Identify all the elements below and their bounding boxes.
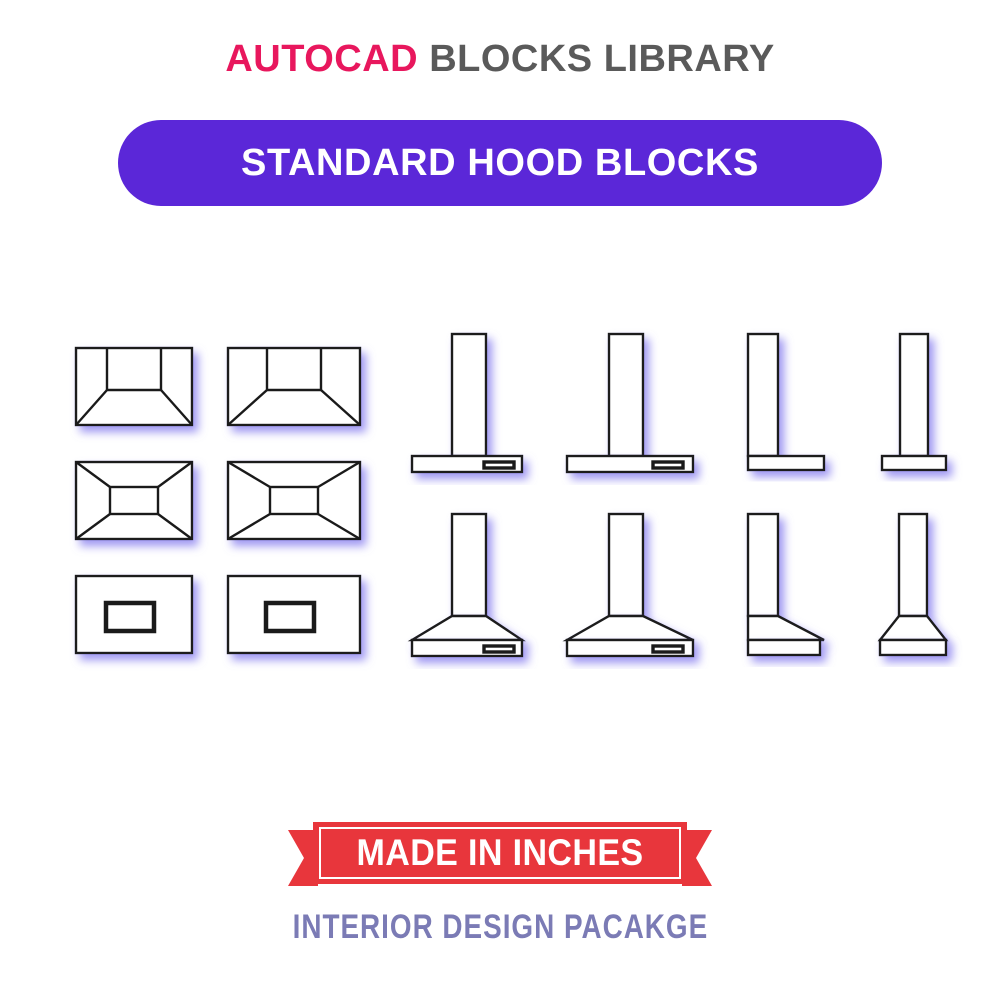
ribbon-label: MADE IN INCHES: [305, 817, 695, 889]
footer-tagline-label: INTERIOR DESIGN PACAKGE: [292, 908, 708, 947]
category-banner: STANDARD HOOD BLOCKS: [118, 120, 882, 206]
hood-elev-straight-offset-base[interactable]: [746, 332, 856, 482]
hood-elev-straight-wide-panel-2[interactable]: [565, 332, 705, 482]
hood-plan-flat-wide[interactable]: [226, 574, 372, 666]
hood-plan-trapezoid-narrow[interactable]: [74, 346, 204, 438]
blocks-canvas: [0, 300, 1000, 720]
page-title-brand: AUTOCAD: [225, 38, 418, 80]
footer-tagline: INTERIOR DESIGN PACAKGE: [0, 908, 1000, 947]
hood-elev-straight-wide-panel[interactable]: [410, 332, 540, 482]
page-title-rest: BLOCKS LIBRARY: [429, 38, 774, 80]
hood-elev-canopy-wide-panel-2[interactable]: [565, 512, 705, 667]
hood-elev-canopy-one-sided[interactable]: [746, 512, 856, 667]
hood-plan-trapezoid-wide[interactable]: [226, 346, 372, 438]
hood-elev-canopy-wide-panel[interactable]: [410, 512, 540, 667]
hood-elev-straight-narrow-base[interactable]: [880, 332, 976, 482]
hood-plan-flat-narrow[interactable]: [74, 574, 204, 666]
category-banner-label: STANDARD HOOD BLOCKS: [241, 142, 759, 185]
hood-plan-pyramid-narrow[interactable]: [74, 460, 204, 552]
made-in-inches-ribbon: MADE IN INCHES: [288, 822, 712, 894]
hood-plan-pyramid-wide[interactable]: [226, 460, 372, 552]
hood-elev-canopy-symmetric[interactable]: [878, 512, 978, 667]
page-title: AUTOCAD BLOCKS LIBRARY: [0, 38, 1000, 81]
